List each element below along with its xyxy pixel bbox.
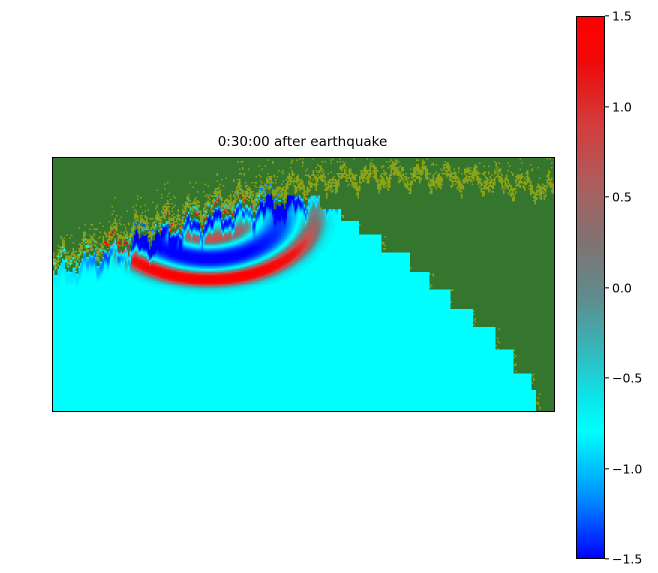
colorbar-tick-label: −1.0 — [612, 461, 642, 476]
x-tick-mark — [399, 411, 400, 412]
x-tick-mark — [82, 411, 83, 412]
colorbar-tick-mark — [605, 15, 609, 16]
tsunami-heatmap — [53, 158, 554, 411]
y-tick-mark — [52, 336, 53, 337]
y-tick-mark — [52, 241, 53, 242]
x-tick-mark — [525, 411, 526, 412]
page-title: 0:30:00 after earthquake — [52, 134, 553, 150]
colorbar-tick-label: 0.5 — [612, 190, 632, 205]
colorbar-tick-label: 0.0 — [612, 280, 632, 295]
map-axes: 42.545.047.550.052.555.057.560.0−160−155… — [52, 157, 555, 412]
x-tick-mark — [272, 411, 273, 412]
y-tick-mark — [52, 272, 53, 273]
colorbar-tick-label: −1.5 — [612, 552, 642, 567]
colorbar-tick-label: 1.5 — [612, 9, 632, 24]
colorbar: −1.5−1.0−0.50.00.51.01.5 — [576, 16, 605, 559]
colorbar-gradient — [576, 16, 605, 559]
x-tick-mark — [335, 411, 336, 412]
colorbar-tick-mark — [605, 106, 609, 107]
y-tick-mark — [52, 399, 53, 400]
colorbar-tick-label: 1.0 — [612, 99, 632, 114]
colorbar-tick-label: −0.5 — [612, 371, 642, 386]
figure-canvas: 0:30:00 after earthquake 42.545.047.550.… — [0, 0, 658, 573]
x-tick-mark — [208, 411, 209, 412]
x-tick-mark — [145, 411, 146, 412]
colorbar-tick-mark — [605, 196, 609, 197]
colorbar-tick-mark — [605, 558, 609, 559]
y-tick-mark — [52, 209, 53, 210]
y-tick-mark — [52, 367, 53, 368]
x-tick-mark — [462, 411, 463, 412]
y-tick-mark — [52, 178, 53, 179]
y-tick-mark — [52, 304, 53, 305]
colorbar-tick-mark — [605, 468, 609, 469]
colorbar-tick-mark — [605, 377, 609, 378]
colorbar-tick-mark — [605, 287, 609, 288]
